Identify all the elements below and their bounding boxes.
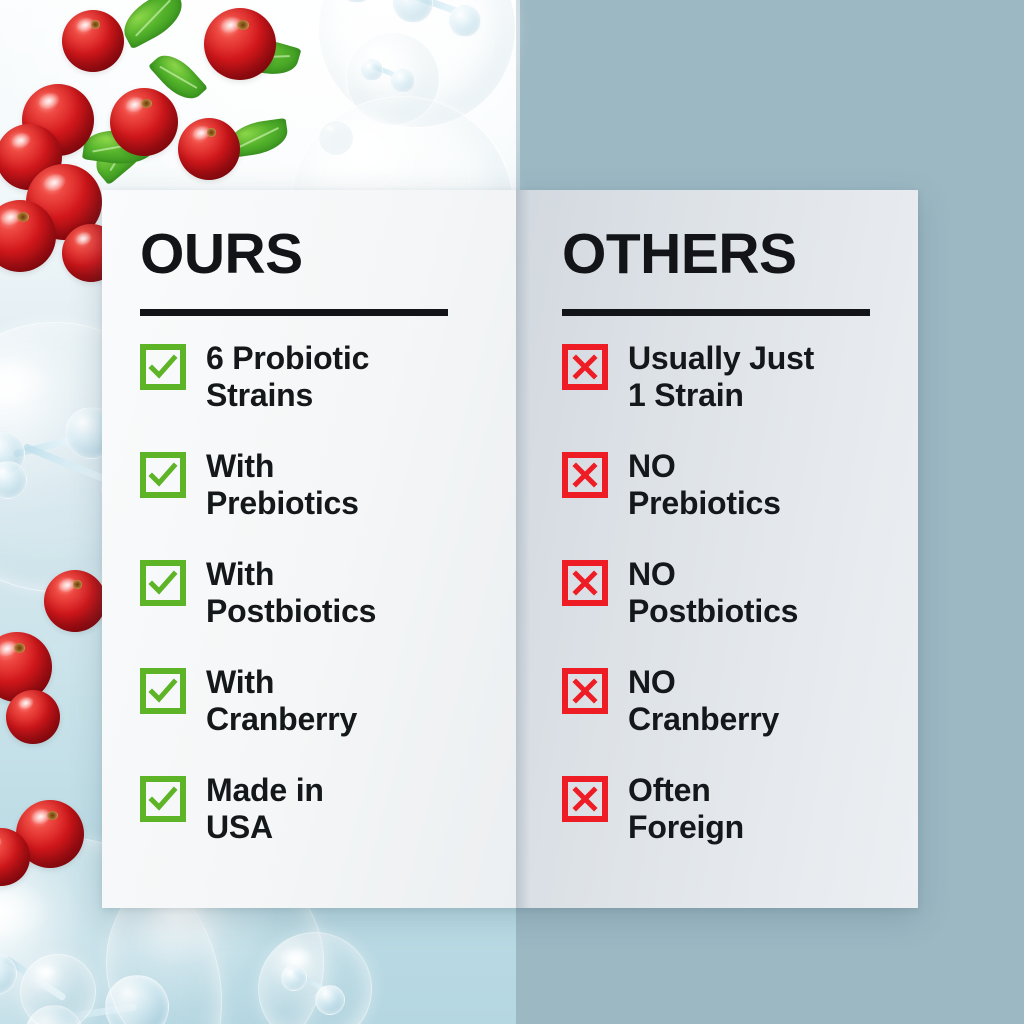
cranberry — [204, 8, 276, 80]
molecule-structure — [281, 961, 353, 1017]
cross-icon — [562, 668, 608, 714]
list-item: Made in USA — [140, 772, 516, 880]
ours-panel: OURS 6 Probiotic Strains — [102, 190, 516, 908]
cross-icon — [562, 560, 608, 606]
cranberry — [178, 118, 240, 180]
comparison-card: OURS 6 Probiotic Strains — [102, 190, 918, 908]
molecule-structure — [361, 53, 427, 101]
water-bubble — [318, 120, 354, 156]
molecule-bond — [292, 970, 327, 993]
molecule-atom — [0, 461, 27, 499]
cross-icon — [562, 776, 608, 822]
list-item-label: NO Cranberry — [628, 664, 779, 738]
others-feature-list: Usually Just 1 Strain NO Prebiotics — [562, 340, 918, 880]
molecule-bond — [23, 443, 105, 482]
molecule-atom — [339, 0, 375, 3]
check-icon — [140, 668, 186, 714]
molecule-atom — [315, 985, 345, 1015]
list-item: Usually Just 1 Strain — [562, 340, 918, 448]
list-item: 6 Probiotic Strains — [140, 340, 516, 448]
ours-title: OURS — [140, 226, 516, 283]
molecule-atom — [391, 69, 415, 93]
check-icon — [140, 776, 186, 822]
list-item-label: With Prebiotics — [206, 448, 359, 522]
molecule-bond — [13, 435, 77, 457]
molecule-bond — [369, 63, 402, 80]
list-item-label: 6 Probiotic Strains — [206, 340, 369, 414]
list-item: With Prebiotics — [140, 448, 516, 556]
water-bubble — [20, 954, 96, 1024]
others-title: OTHERS — [562, 226, 918, 283]
list-item-label: Often Foreign — [628, 772, 744, 846]
list-item-label: With Cranberry — [206, 664, 357, 738]
ours-feature-list: 6 Probiotic Strains With Prebiotics — [140, 340, 516, 880]
list-item-label: NO Postbiotics — [628, 556, 798, 630]
list-item: With Postbiotics — [140, 556, 516, 664]
ours-title-underline — [140, 309, 448, 316]
cranberry — [110, 88, 178, 156]
list-item-label: With Postbiotics — [206, 556, 376, 630]
list-item-label: Made in USA — [206, 772, 324, 846]
molecule-atom — [393, 0, 433, 23]
list-item: NO Cranberry — [562, 664, 918, 772]
molecule-atom — [0, 431, 25, 477]
molecule-atom — [449, 5, 481, 37]
list-item: NO Prebiotics — [562, 448, 918, 556]
list-item: With Cranberry — [140, 664, 516, 772]
molecule-bond — [357, 0, 416, 3]
check-icon — [140, 560, 186, 606]
cranberry — [62, 10, 124, 72]
list-item-label: NO Prebiotics — [628, 448, 781, 522]
infographic-canvas: OURS 6 Probiotic Strains — [0, 0, 1024, 1024]
others-title-underline — [562, 309, 870, 316]
cranberry — [44, 570, 106, 632]
list-item: Often Foreign — [562, 772, 918, 880]
molecule-atom — [361, 59, 383, 81]
check-icon — [140, 344, 186, 390]
molecule-atom — [0, 953, 17, 995]
cross-icon — [562, 344, 608, 390]
list-item: NO Postbiotics — [562, 556, 918, 664]
cranberry — [6, 690, 60, 744]
cross-icon — [562, 452, 608, 498]
check-icon — [140, 452, 186, 498]
others-panel: OTHERS Usually Just 1 Strain — [516, 190, 918, 908]
molecule-bond — [410, 0, 467, 18]
list-item-label: Usually Just 1 Strain — [628, 340, 814, 414]
molecule-atom — [281, 965, 307, 991]
